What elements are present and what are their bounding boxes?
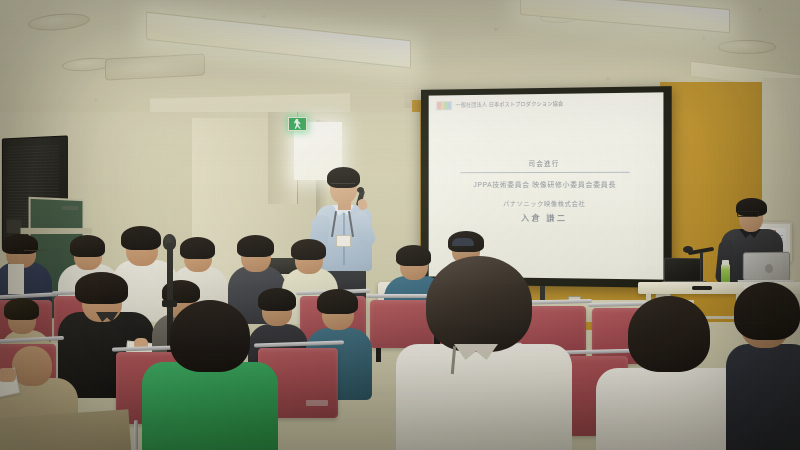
person-hair [628,296,710,372]
glasses-icon [24,250,46,255]
person-head [12,346,52,386]
person-body [726,344,800,450]
audience-member-white-shirt-front [396,258,572,450]
person-hair [180,237,215,259]
laptop-screen [664,258,701,283]
person-hair [121,226,161,250]
person-hair [70,235,105,257]
person-hair [75,272,128,304]
glasses-icon [737,211,759,217]
glasses-icon [736,316,766,324]
cap-icon [452,238,474,246]
person-body [596,368,746,450]
jppa-logo-icon [436,101,451,110]
slide-title: JPPA技術委員会 映像研修小委員会委員長 [429,180,664,190]
projector-stand-leg [376,346,381,362]
slide-body: 司会進行 JPPA技術委員会 映像研修小委員会委員長 パナソニック映像株式会社 … [429,157,664,224]
microphone-base [692,286,712,290]
bottle-cap [722,260,729,265]
speaker-badge [7,219,22,233]
audience-member-dark-right [726,286,800,450]
chair-leg [134,420,138,450]
photo-conference-room: 一般社団法人 日本ポストプロダクション協会 司会進行 JPPA技術委員会 映像研… [0,0,800,450]
slide-header: 一般社団法人 日本ポストプロダクション協会 [436,99,655,111]
board-rail [21,228,92,234]
person-body [142,362,278,450]
person-shirt-collar [8,264,24,294]
person-hair [237,235,274,257]
glasses-icon [331,183,355,188]
slide-divider [461,172,630,173]
audience-member-green-top [142,300,278,450]
microphone-icon [683,246,693,253]
slide-role: 司会進行 [429,157,664,168]
laptop-dark [662,258,704,285]
slide-header-text: 一般社団法人 日本ポストプロダクション協会 [456,101,564,110]
slide-company: パナソニック映像株式会社 [429,199,664,209]
person-hair [170,300,250,372]
person-hair [426,256,532,352]
person-body [396,344,572,450]
microphone-head [357,187,364,193]
apple-logo-icon [765,264,773,273]
person-hair [291,239,326,260]
ceiling-vent-icon [718,40,776,54]
wall-notice [62,206,78,210]
person-hair [734,282,800,340]
chair-label [306,400,328,406]
audience-member-white-tshirt-right [596,298,746,450]
person-hair [317,289,358,314]
running-man-icon [294,119,301,129]
person-hand [0,368,16,382]
emergency-exit-sign-icon [288,117,307,131]
laptop-lid [743,252,790,282]
slide-presenter-name: 入倉 謙二 [429,212,664,225]
person-hair [4,298,39,320]
presenter-name-badge [336,235,351,247]
